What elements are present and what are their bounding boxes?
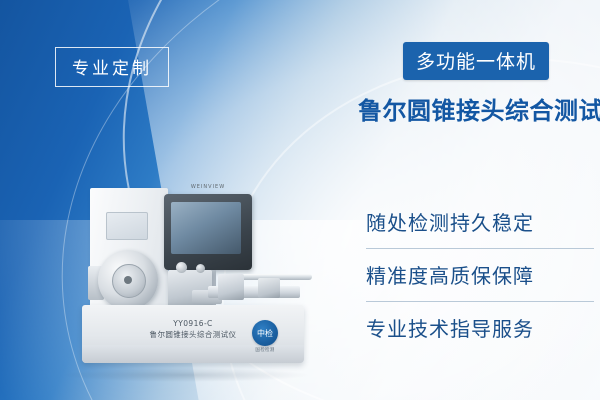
fixture-knob-primary xyxy=(176,262,187,273)
product-photo: WEINVIEW YY0916-C 鲁尔圆锥接头综合测试仪 中检 国检检测 xyxy=(72,178,332,374)
rotary-wheel-hub xyxy=(124,276,132,284)
rail-carriage-left xyxy=(218,274,244,300)
rail-carriage-right xyxy=(258,278,280,298)
feature-item-2: 精准度高质保保障 xyxy=(366,249,594,302)
promo-banner: 专业定制 多功能一体机 鲁尔圆锥接头综合测试仪 随处检测持久稳定 精准度高质保保… xyxy=(0,0,600,400)
headline-block: 多功能一体机 鲁尔圆锥接头综合测试仪 xyxy=(358,42,594,126)
product-shadow xyxy=(60,368,310,382)
touchscreen-display xyxy=(171,202,241,254)
headline-title: 鲁尔圆锥接头综合测试仪 xyxy=(358,91,594,126)
machine-back-window xyxy=(106,212,148,240)
feature-item-1: 随处检测持久稳定 xyxy=(366,196,594,249)
feature-item-3: 专业技术指导服务 xyxy=(366,302,594,354)
certification-emblem-caption: 国检检测 xyxy=(242,347,288,353)
custom-service-badge: 专业定制 xyxy=(55,47,169,87)
fixture-knob-secondary xyxy=(196,264,205,273)
feature-list: 随处检测持久稳定 精准度高质保保障 专业技术指导服务 xyxy=(366,196,594,354)
screen-brand-label: WEINVIEW xyxy=(164,184,252,190)
headline-pill: 多功能一体机 xyxy=(403,42,549,80)
certification-emblem-text: 中检 xyxy=(252,328,278,339)
